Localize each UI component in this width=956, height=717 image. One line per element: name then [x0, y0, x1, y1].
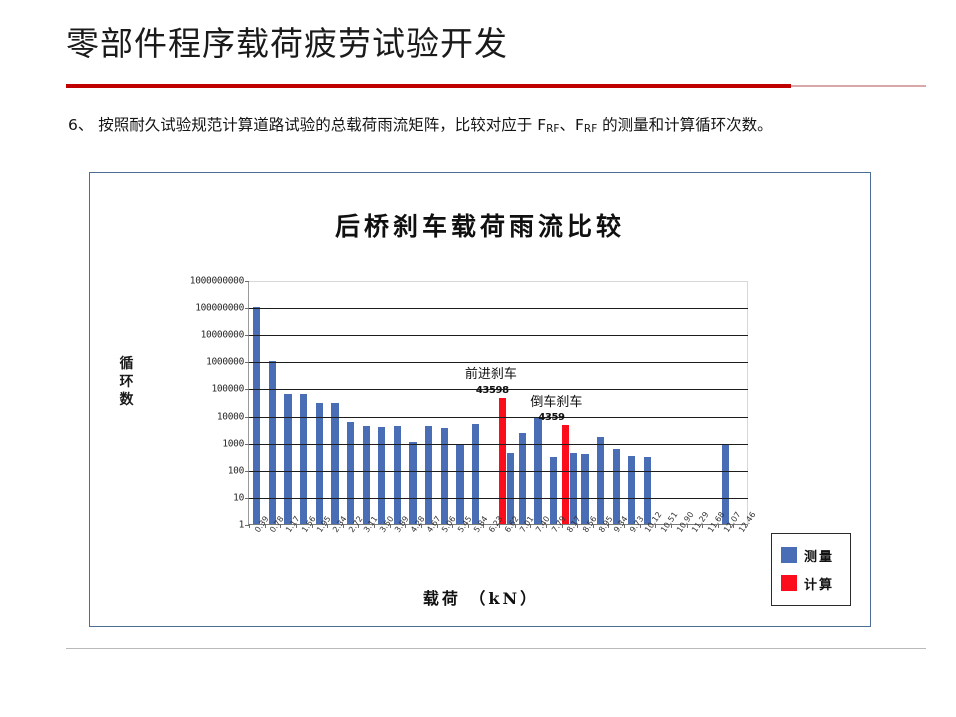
bar-measured [363, 426, 370, 524]
body-text-suffix: 的测量和计算循环次数。 [597, 116, 772, 134]
bar-measured [425, 426, 432, 524]
page-title: 零部件程序载荷疲劳试验开发 [66, 18, 926, 70]
title-divider-strong [66, 84, 791, 88]
plot-area [248, 281, 748, 525]
y-axis-tickmark [245, 389, 249, 390]
bar-measured [507, 453, 514, 524]
legend-label-measured: 测量 [804, 546, 834, 565]
legend-item-calculated: 计算 [781, 569, 850, 597]
x-axis-title: 载荷 （kN） [90, 585, 872, 609]
annotation-forward-brake-label: 前进刹车 [465, 363, 517, 382]
y-axis-tick: 1 [239, 520, 244, 531]
x-axis-tick-labels: 0.390.781.171.561.952.342.723.113.503.89… [248, 529, 748, 581]
y-axis-tick: 10000 [217, 411, 244, 422]
y-axis-tickmark [245, 444, 249, 445]
body-text-middle: 、F [559, 116, 583, 134]
legend-swatch-measured-icon [781, 547, 797, 563]
y-axis-tickmark [245, 362, 249, 363]
bar-measured [300, 394, 307, 524]
bar-measured [316, 403, 323, 524]
y-axis-tickmark [245, 417, 249, 418]
legend-swatch-calculated-icon [781, 575, 797, 591]
bar-measured [644, 457, 651, 524]
y-axis-tick: 10000000 [201, 330, 244, 341]
annotation-reverse-brake-label: 倒车刹车 [530, 391, 582, 410]
y-axis-tick: 100 [228, 465, 244, 476]
bar-measured [472, 424, 479, 524]
plot-wrapper: 循环数 100000000010000000010000000100000010… [90, 173, 872, 628]
gridline [249, 335, 748, 336]
y-axis-tickmark [245, 335, 249, 336]
bar-measured [550, 457, 557, 524]
body-subscript-1: RF [546, 123, 559, 135]
chart-container[interactable]: 后桥刹车载荷雨流比较 循环数 1000000000100000000100000… [89, 172, 871, 627]
y-axis-tick: 1000000000 [190, 276, 244, 287]
y-axis-tickmark [245, 471, 249, 472]
legend-label-calculated: 计算 [804, 574, 834, 593]
y-axis-tickmark [245, 281, 249, 282]
bar-calculated [562, 425, 569, 524]
y-axis-tick: 100000000 [195, 303, 244, 314]
bar-measured [284, 394, 291, 524]
bar-measured [570, 453, 577, 524]
gridline [249, 498, 748, 499]
legend-item-measured: 测量 [781, 541, 850, 569]
bar-measured [394, 426, 401, 525]
title-divider [66, 84, 926, 88]
body-paragraph: 6、 按照耐久试验规范计算道路试验的总载荷雨流矩阵，比较对应于 FRF、FRF … [68, 113, 920, 140]
y-axis-tick-labels: 1000000000100000000100000001000000100000… [150, 281, 246, 525]
gridline [249, 444, 748, 445]
gridline [249, 471, 748, 472]
gridline [249, 308, 748, 309]
x-axis-tickmark [249, 524, 250, 528]
footer-divider [66, 648, 926, 649]
bar-measured [378, 427, 385, 524]
bar-measured [331, 403, 338, 524]
bar-measured [519, 433, 526, 524]
bar-measured [456, 444, 463, 524]
bar-measured [597, 437, 604, 524]
y-axis-tick: 1000 [222, 438, 244, 449]
y-axis-tickmark [245, 308, 249, 309]
title-divider-soft [791, 85, 926, 87]
y-axis-tickmark [245, 498, 249, 499]
y-axis-tick: 1000000 [206, 357, 244, 368]
chart-legend: 测量 计算 [771, 533, 851, 606]
annotation-forward-brake-value: 43598 [476, 385, 509, 396]
body-subscript-2: RF [584, 123, 597, 135]
bar-measured [409, 442, 416, 524]
bar-measured [581, 454, 588, 524]
y-axis-tick: 100000 [211, 384, 244, 395]
bar-measured [628, 456, 635, 524]
bar-measured [347, 422, 354, 524]
slide-root: 零部件程序载荷疲劳试验开发 6、 按照耐久试验规范计算道路试验的总载荷雨流矩阵，… [0, 0, 956, 717]
bar-measured [441, 428, 448, 524]
bar-measured [613, 449, 620, 524]
bars-layer [249, 281, 748, 524]
body-text-prefix: 6、 按照耐久试验规范计算道路试验的总载荷雨流矩阵，比较对应于 F [68, 116, 546, 134]
y-axis-title: 循环数 [116, 355, 138, 409]
y-axis-tick: 10 [233, 492, 244, 503]
gridline [249, 417, 748, 418]
annotation-reverse-brake-value: 4359 [538, 412, 564, 423]
